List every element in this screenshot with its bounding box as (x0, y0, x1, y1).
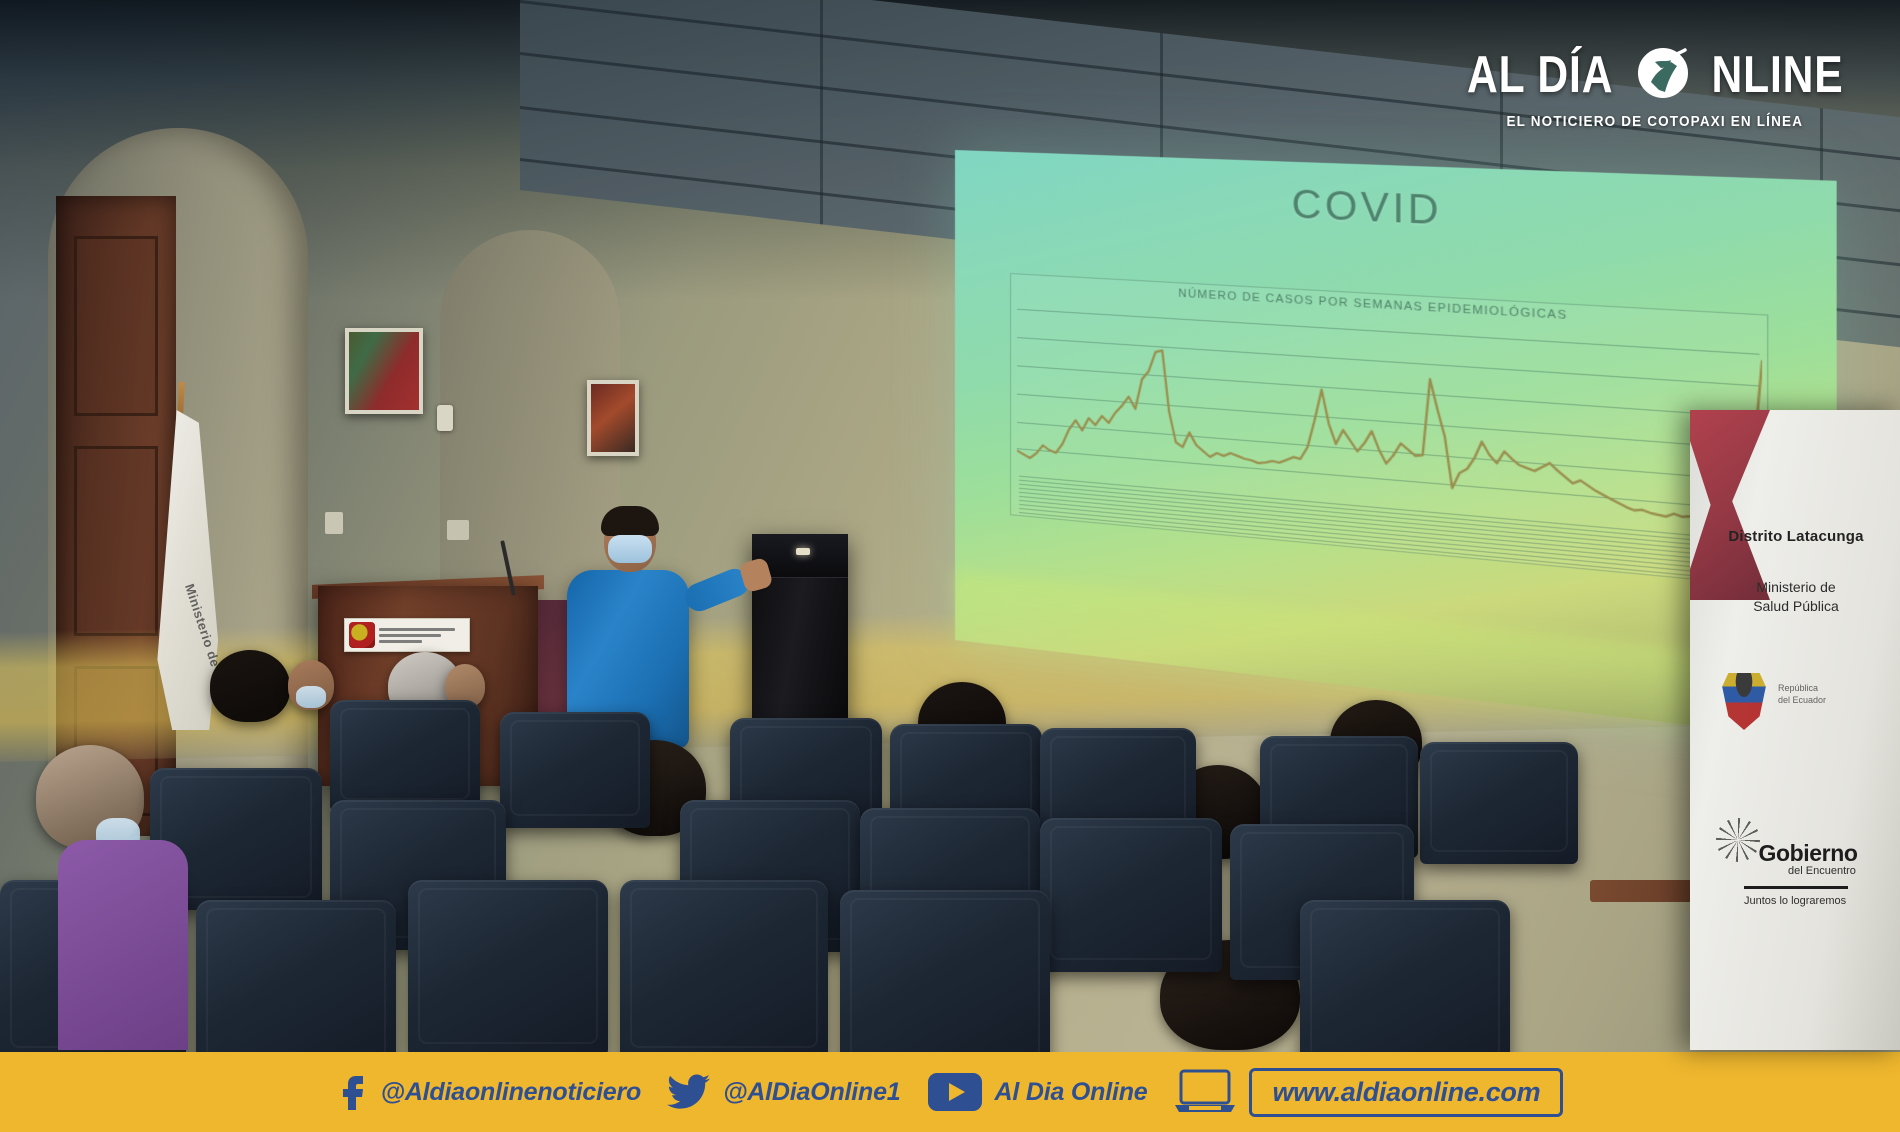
youtube-icon[interactable] (927, 1071, 983, 1113)
presenter-hair (601, 506, 659, 536)
attendee-face-mask (296, 686, 326, 708)
auditorium-chair (408, 880, 608, 1052)
banner-district: Distrito Latacunga (1690, 528, 1900, 545)
globe-icon (1631, 40, 1695, 109)
banner-republic-line1: República (1778, 682, 1878, 694)
footer-item-youtube[interactable]: Al Dia Online (927, 1071, 1148, 1113)
banner-swoosh-graphic (1690, 410, 1770, 600)
social-footer-bar: @Aldiaonlinenoticiero @AlDiaOnline1 Al D… (0, 1052, 1900, 1132)
auditorium-chair (330, 700, 480, 812)
wall-outlet-icon (437, 405, 453, 431)
banner-ministry-line2: Salud Pública (1690, 597, 1900, 616)
sunburst-icon (1716, 818, 1760, 862)
facebook-icon[interactable] (337, 1072, 369, 1112)
auditorium-chair (1040, 818, 1222, 972)
brand-watermark: AL DÍA NLINE EL NOTICIERO DE COTOPAXI EN… (1451, 40, 1858, 130)
brand-name-right: NLINE (1711, 45, 1843, 105)
banner-ministry: Ministerio de Salud Pública (1690, 578, 1900, 616)
banner-ministry-line1: Ministerio de (1690, 578, 1900, 597)
auditorium-chair (196, 900, 396, 1052)
twitter-handle[interactable]: @AlDiaOnline1 (723, 1078, 900, 1107)
wall-picture-2 (587, 380, 639, 456)
footer-item-website[interactable]: www.aldiaonline.com (1173, 1068, 1563, 1117)
banner-republic-line2: del Ecuador (1778, 694, 1878, 706)
wall-switch-icon (325, 512, 343, 534)
website-url[interactable]: www.aldiaonline.com (1272, 1077, 1540, 1107)
ministry-crest-icon (349, 622, 375, 648)
auditorium-chair (840, 890, 1050, 1052)
facebook-handle[interactable]: @Aldiaonlinenoticiero (381, 1078, 641, 1107)
banner-government-block: Gobierno del Encuentro Juntos lo lograre… (1690, 840, 1900, 907)
twitter-icon[interactable] (667, 1073, 711, 1111)
event-photograph: Ministerio de Salud COVID NÚMERO DE CASO… (0, 0, 1900, 1052)
banner-government-tagline: Juntos lo lograremos (1744, 895, 1900, 907)
podium-plaque (344, 618, 470, 652)
attendee-head (210, 650, 290, 722)
speaker-led-icon (796, 548, 810, 555)
auditorium-chair (1420, 742, 1578, 864)
presenter-face-mask (608, 535, 652, 563)
auditorium-chair (500, 712, 650, 828)
slide-chart: NÚMERO DE CASOS POR SEMANAS EPIDEMIOLÓGI… (1010, 273, 1768, 587)
footer-item-facebook[interactable]: @Aldiaonlinenoticiero (337, 1072, 641, 1112)
banner-divider (1744, 886, 1848, 889)
news-photo-frame: Ministerio de Salud COVID NÚMERO DE CASO… (0, 0, 1900, 1132)
plaque-text-lines (379, 628, 465, 643)
wall-plate-icon (447, 520, 469, 540)
brand-name-left: AL DÍA (1467, 45, 1613, 105)
auditorium-chair (620, 880, 828, 1052)
rollup-banner: Distrito Latacunga Ministerio de Salud P… (1690, 410, 1900, 1050)
brand-tagline: EL NOTICIERO DE COTOPAXI EN LÍNEA (1506, 113, 1803, 130)
laptop-icon[interactable] (1173, 1068, 1237, 1116)
wall-picture-1 (345, 328, 423, 414)
auditorium-chair (1300, 900, 1510, 1052)
website-url-box[interactable]: www.aldiaonline.com (1249, 1068, 1563, 1117)
slide-title: COVID (955, 170, 1837, 253)
attendee-torso (58, 840, 188, 1050)
youtube-channel[interactable]: Al Dia Online (995, 1078, 1148, 1107)
footer-item-twitter[interactable]: @AlDiaOnline1 (667, 1073, 900, 1111)
ecuador-coat-of-arms-icon (1718, 668, 1770, 730)
banner-republic: República del Ecuador (1778, 682, 1878, 706)
